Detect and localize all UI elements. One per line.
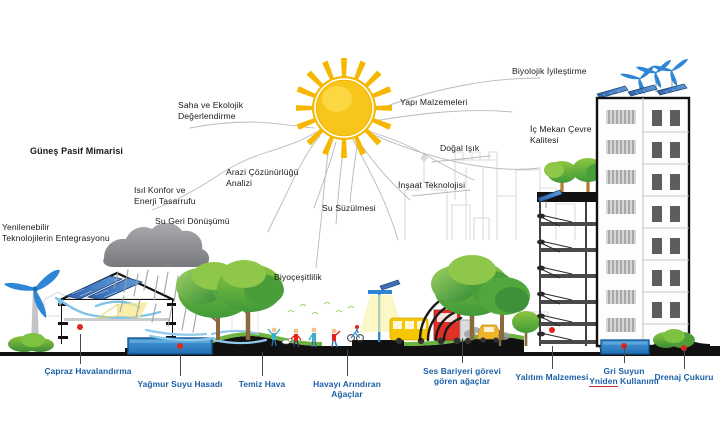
leader-stem [347, 350, 348, 376]
marker-dot [549, 327, 555, 333]
marker-dot [77, 324, 83, 330]
label-gunes-pasif-mimarisi: Güneş Pasif Mimarisi [30, 146, 123, 157]
label-dogal-isik: Doğal Işık [440, 143, 479, 154]
label-biyocesitlilik: Biyoçeşitlilik [274, 272, 322, 283]
leader-stem [552, 346, 553, 369]
label-isil-konfor: Isıl Konfor ve Enerji Tasarrufu [134, 185, 196, 207]
label-biyolojik-iyilestirme: Biyolojik İyileştirme [512, 66, 587, 77]
leader-stem [80, 334, 81, 364]
leader-stem [624, 346, 625, 363]
label-capraz-havalandirma: Çapraz Havalandırma [18, 366, 158, 376]
wind-turbine-left [4, 270, 60, 352]
label-su-geri-donusumu: Su Geri Dönüşümü [155, 216, 230, 227]
label-insaat-teknolojisi: İnşaat Teknolojisi [398, 180, 465, 191]
label-arazi-cozunurlugu: Arazi Çözünürlüğü Analizi [226, 167, 298, 189]
leader-stem [262, 352, 263, 376]
leader-stem [462, 338, 463, 363]
roof-solar-panels [66, 276, 142, 300]
tree-cluster-centre-left [176, 260, 284, 340]
marker-dot [177, 343, 183, 349]
leader-stem [180, 352, 181, 376]
label-saha-ve-ekolojik: Saha ve Ekolojik Değerlendirme [178, 100, 243, 122]
label-ic-mekan-cevre-kalitesi: İç Mekan Çevre Kalitesi [530, 124, 592, 146]
grey-water-tank [601, 340, 649, 354]
solar-wind-tower [597, 59, 689, 346]
label-su-suzulmesi: Su Süzülmesi [322, 203, 376, 214]
label-yenilenebilir-teknolojiler: Yenilenebilir Teknolojilerin Entegrasyon… [2, 222, 110, 244]
label-yapi-malzemeleri: Yapı Malzemeleri [400, 97, 467, 108]
infographic-canvas: Güneş Pasif MimarisiYenilenebilir Teknol… [0, 0, 720, 427]
label-drenaj-cukuru: Drenaj Çukuru [614, 372, 720, 382]
